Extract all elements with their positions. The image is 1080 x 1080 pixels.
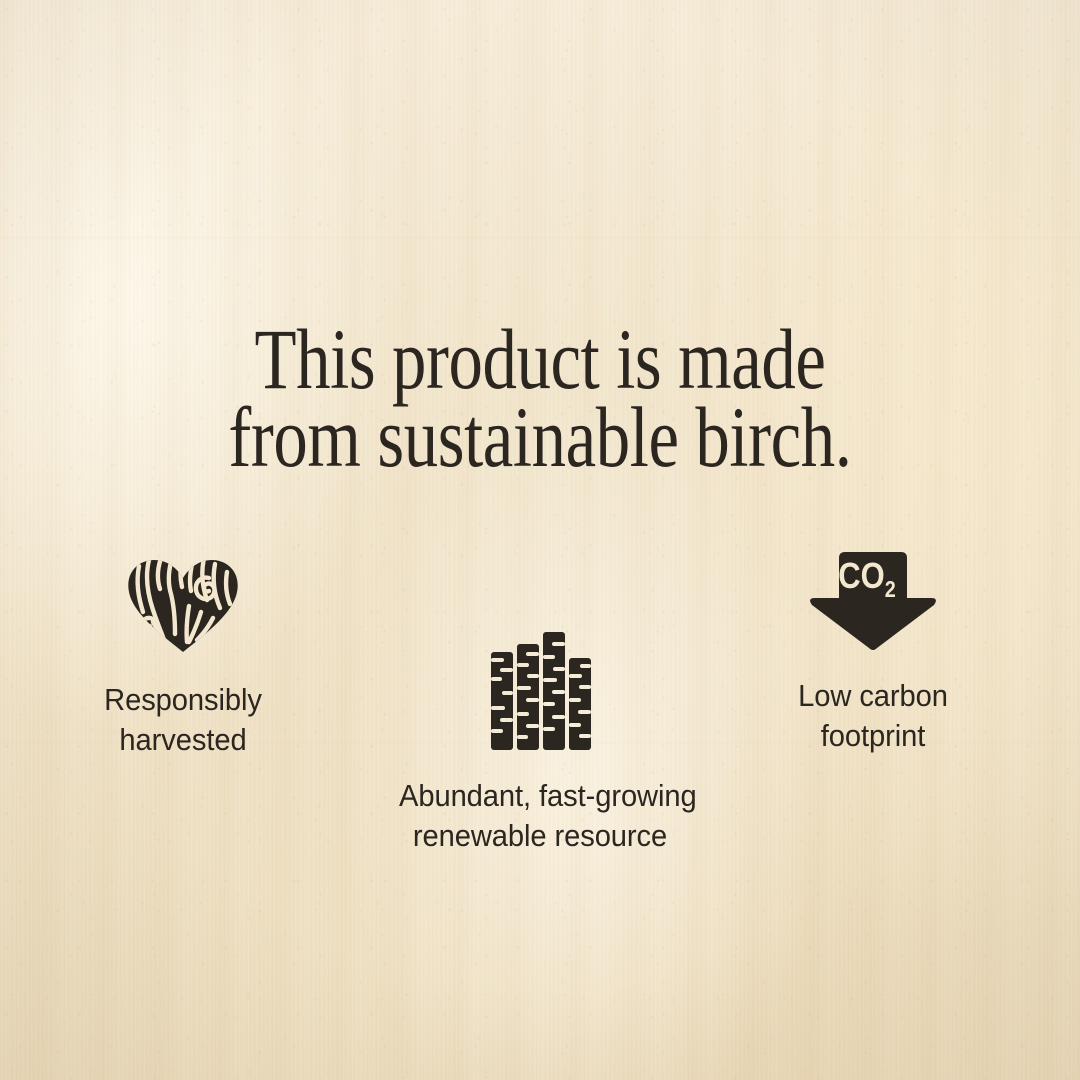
caption-line-1: Responsibly [42, 680, 324, 720]
caption-line-2: footprint [732, 716, 1014, 756]
feature-responsibly-harvested: Responsibly harvested [33, 556, 333, 760]
birch-trunks-icon [488, 628, 592, 750]
feature-renewable-resource: Abundant, fast-growing renewable resourc… [390, 628, 690, 856]
caption-line-1: Low carbon [732, 676, 1014, 716]
headline-line-1: This product is made [108, 320, 972, 398]
caption-line-1: Abundant, fast-growing [399, 776, 681, 816]
co2-down-arrow-icon: CO2 [805, 552, 941, 652]
feature-caption-low-carbon-footprint: Low carbon footprint [732, 676, 1014, 756]
caption-line-2: renewable resource [399, 816, 681, 856]
sustainable-birch-poster: This product is made from sustainable bi… [0, 0, 1080, 1080]
poster-content: This product is made from sustainable bi… [0, 0, 1080, 1080]
headline-line-2: from sustainable birch. [108, 398, 972, 476]
feature-low-carbon-footprint: CO2 Low carbon footprint [723, 552, 1023, 756]
feature-caption-renewable-resource: Abundant, fast-growing renewable resourc… [399, 776, 681, 856]
wood-grain-heart-icon [123, 556, 243, 656]
caption-line-2: harvested [42, 720, 324, 760]
feature-caption-responsibly-harvested: Responsibly harvested [42, 680, 324, 760]
headline: This product is made from sustainable bi… [108, 320, 972, 476]
